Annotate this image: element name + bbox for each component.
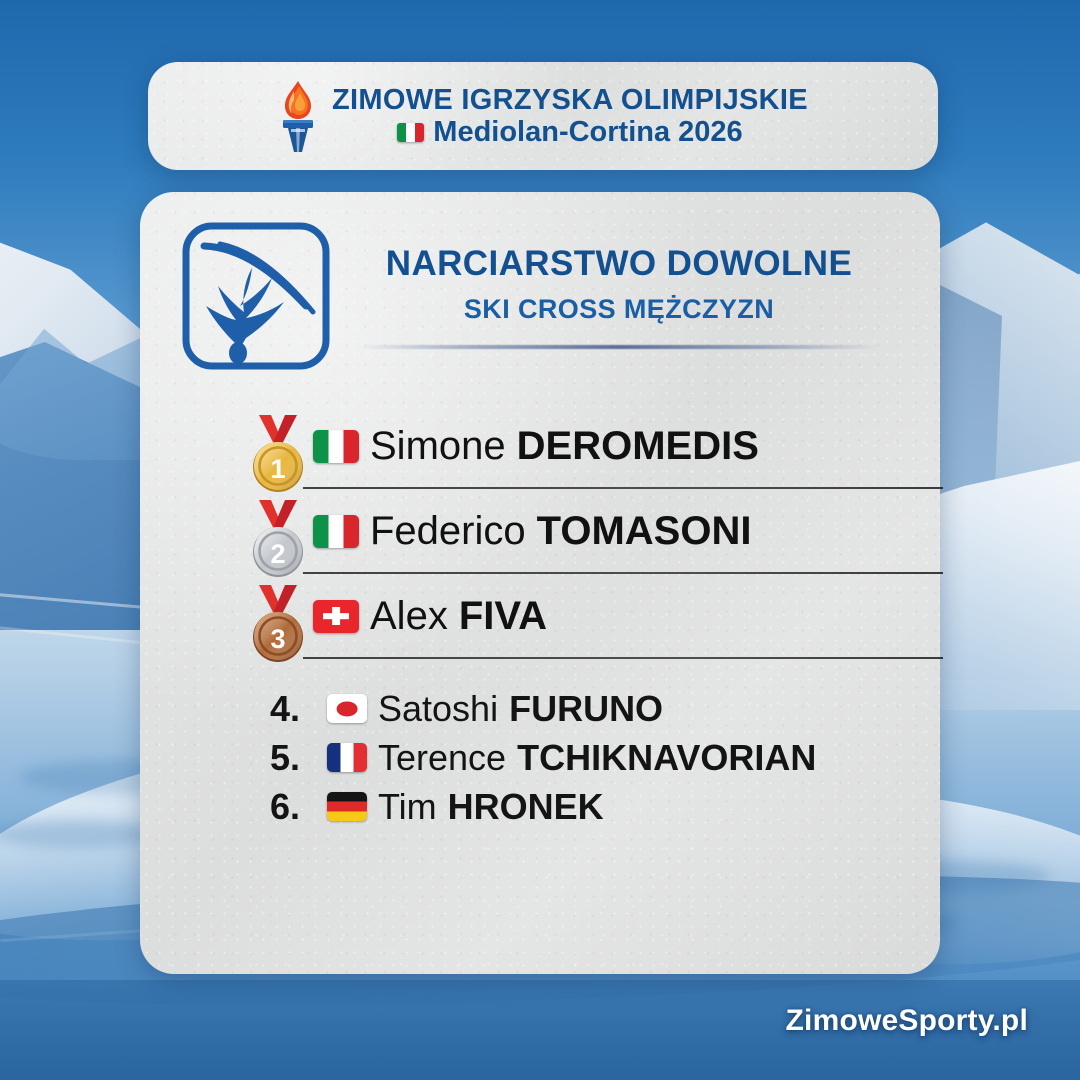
svg-text:1: 1 — [270, 454, 285, 484]
athlete-lastname: TCHIKNAVORIAN — [517, 737, 816, 779]
athlete-firstname: Terence — [378, 737, 506, 779]
athlete-lastname: FURUNO — [509, 688, 663, 730]
athlete-name-2: Federico TOMASONI — [313, 511, 751, 551]
event-title-line2: Mediolan-Cortina 2026 — [433, 116, 742, 148]
podium-row-3: 3 Alex FIVA — [245, 580, 905, 665]
event-title-line1: ZIMOWE IGRZYSKA OLIMPIJSKIE — [332, 84, 808, 116]
result-row-4: 4. Satoshi FURUNO — [270, 684, 970, 733]
title-divider — [359, 345, 879, 349]
flag-italy-icon — [313, 430, 359, 463]
row-separator — [303, 657, 943, 659]
sport-header: NARCIARSTWO DOWOLNE SKI CROSS MĘŻCZYZN — [180, 220, 900, 372]
athlete-firstname: Simone — [370, 426, 506, 466]
bronze-medal-icon: 3 — [245, 584, 311, 664]
gold-medal-icon: 1 — [245, 414, 311, 494]
podium-row-2: 2 Federico TOMASONI — [245, 495, 905, 580]
athlete-firstname: Federico — [370, 511, 526, 551]
svg-text:2: 2 — [270, 539, 285, 569]
sport-title: NARCIARSTWO DOWOLNE — [338, 243, 900, 285]
athlete-lastname: DEROMEDIS — [517, 426, 759, 466]
flag-france-icon — [327, 743, 367, 772]
podium-row-1: 1 Simone DEROMEDIS — [245, 410, 905, 495]
result-row-6: 6. Tim HRONEK — [270, 782, 970, 831]
rank-label: 5. — [270, 737, 316, 779]
podium-list: 1 Simone DEROMEDIS — [245, 410, 905, 665]
athlete-lastname: HRONEK — [448, 786, 604, 828]
poster-canvas: ZIMOWE IGRZYSKA OLIMPIJSKIE Mediolan-Cor… — [0, 0, 1080, 1080]
freestyle-skiing-pictogram-icon — [180, 220, 332, 372]
flag-switzerland-icon — [313, 600, 359, 633]
row-separator — [303, 572, 943, 574]
athlete-firstname: Satoshi — [378, 688, 498, 730]
results-card: NARCIARSTWO DOWOLNE SKI CROSS MĘŻCZYZN — [140, 192, 940, 974]
flag-japan-icon — [327, 694, 367, 723]
athlete-name-1: Simone DEROMEDIS — [313, 426, 759, 466]
athlete-firstname: Tim — [378, 786, 437, 828]
event-title-line2-row: Mediolan-Cortina 2026 — [397, 116, 742, 148]
athlete-firstname: Alex — [370, 596, 448, 636]
silver-medal-icon: 2 — [245, 499, 311, 579]
flag-italy-icon — [313, 515, 359, 548]
event-header-card: ZIMOWE IGRZYSKA OLIMPIJSKIE Mediolan-Cor… — [148, 62, 938, 170]
athlete-lastname: TOMASONI — [537, 511, 752, 551]
svg-text:3: 3 — [270, 624, 285, 654]
rank-label: 4. — [270, 688, 316, 730]
olympic-torch-icon — [272, 79, 324, 153]
result-row-5: 5. Terence TCHIKNAVORIAN — [270, 733, 970, 782]
rank-label: 6. — [270, 786, 316, 828]
flag-germany-icon — [327, 792, 367, 821]
athlete-lastname: FIVA — [459, 596, 547, 636]
sport-subtitle: SKI CROSS MĘŻCZYZN — [338, 294, 900, 325]
athlete-name-3: Alex FIVA — [313, 596, 547, 636]
flag-italy-icon — [397, 123, 424, 142]
other-placings-list: 4. Satoshi FURUNO 5. Terence TCHIKNAVORI… — [270, 684, 970, 831]
row-separator — [303, 487, 943, 489]
site-watermark: ZimoweSporty.pl — [786, 1004, 1028, 1038]
